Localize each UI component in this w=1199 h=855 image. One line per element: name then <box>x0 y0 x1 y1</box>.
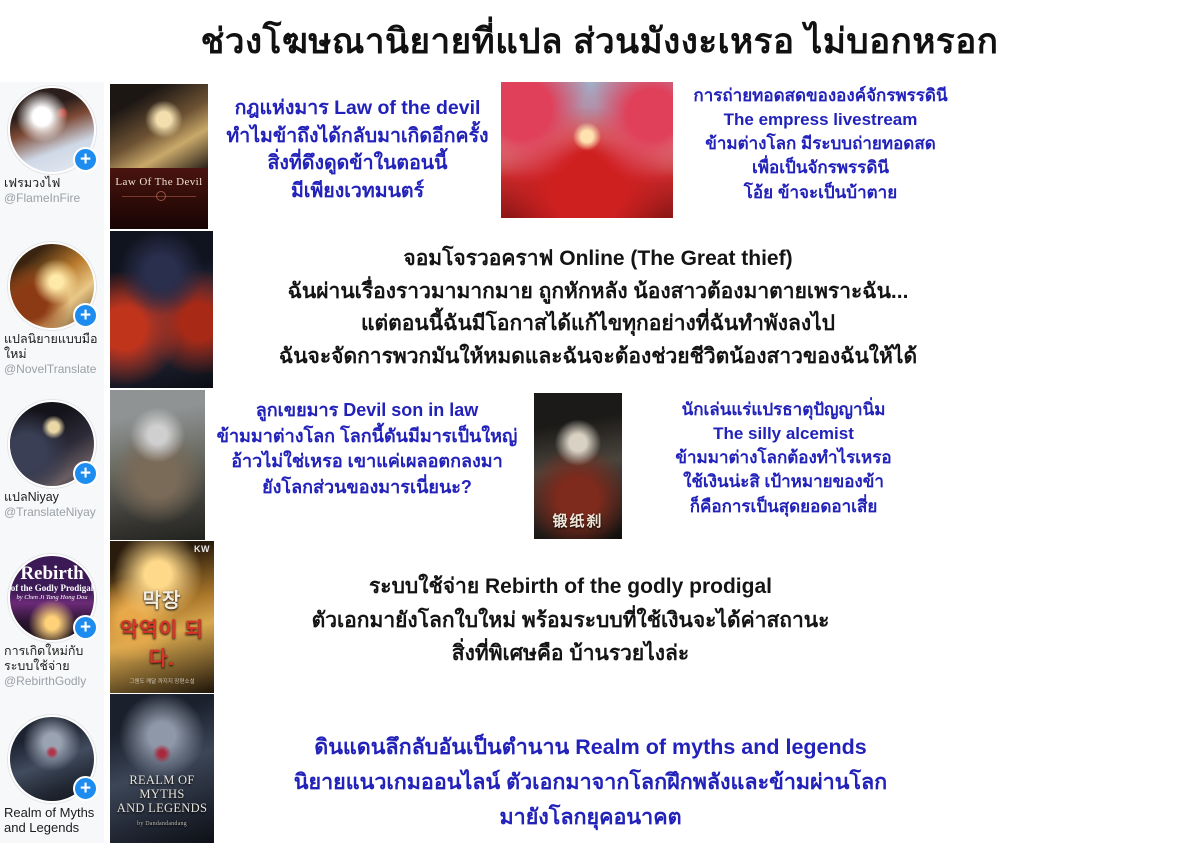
sidebar-item-handle: @TranslateNiyay <box>0 505 104 520</box>
sidebar-item-label: แปลนิยายแบบมือใหม่ <box>0 332 104 362</box>
promo-line: การถ่ายทอดสดขององค์จักรพรรดินี <box>678 84 963 108</box>
promo-line: โอ้ย ข้าจะเป็นบ้าตาย <box>678 181 963 205</box>
promo-line: ทำไมข้าถึงได้กลับมาเกิดอีกครั้ง <box>215 123 500 151</box>
cover-art-devil-son-in-law <box>110 390 205 540</box>
sidebar-item-translateniyay[interactable]: + แปลNiyay @TranslateNiyay <box>0 400 104 548</box>
follow-plus-badge[interactable]: + <box>73 147 98 172</box>
page-title: ช่วงโฆษณานิยายที่แปล ส่วนมังงะเหรอ ไม่บอ… <box>0 14 1199 69</box>
cover-caption: Law Of The Devil <box>110 176 208 188</box>
cover-caption-kr-sub: 그웬도 깨달 까지지 장편소설 <box>110 677 214 685</box>
promo-line: เพื่อเป็นจักรพรรดินี <box>678 156 963 180</box>
promo-line: จอมโจรวอคราฟ Online (The Great thief) <box>218 243 978 276</box>
promo-line: ยังโลกส่วนของมารเนี่ยนะ? <box>207 475 527 501</box>
sidebar-item-handle: @NovelTranslate <box>0 362 104 377</box>
promo-law-of-the-devil: กฎแห่งมาร Law of the devil ทำไมข้าถึงได้… <box>215 95 500 206</box>
avatar-wrap[interactable]: + <box>8 242 96 330</box>
follow-plus-badge[interactable]: + <box>73 776 98 801</box>
promo-line: ระบบใช้จ่าย Rebirth of the godly prodiga… <box>258 570 883 604</box>
followed-accounts-sidebar: + เฟรมวงไฟ @FlameInFire + แปลนิยายแบบมือ… <box>0 82 104 843</box>
sidebar-item-label: การเกิดใหม่กับระบบใช้จ่าย <box>0 644 104 674</box>
cover-caption-realm-line2: AND LEGENDS <box>117 801 207 815</box>
avatar-overlay-text: Rebirth of the Godly Prodigal by Chen Ji… <box>10 564 94 602</box>
cover-caption-realm-line1: REALM OF MYTHS <box>129 773 194 801</box>
promo-line: ฉันผ่านเรื่องราวมามากมาย ถูกหักหลัง น้อง… <box>218 276 978 309</box>
promo-devil-son-in-law: ลูกเขยมาร Devil son in law ข้ามมาต่างโลก… <box>207 398 527 500</box>
follow-plus-badge[interactable]: + <box>73 461 98 486</box>
cover-caption-realm-sub: by Dandandandang <box>112 817 212 831</box>
sidebar-item-realm-of-myths[interactable]: + Realm of Myths and Legends <box>0 715 104 855</box>
promo-line: ข้ามมาต่างโลกต้องทำไรเหรอ <box>636 446 931 470</box>
cover-art-law-of-the-devil <box>110 84 208 168</box>
watermark-kw: KW <box>194 544 210 554</box>
sidebar-item-label: แปลNiyay <box>0 490 104 505</box>
promo-line: นิยายแนวเกมออนไลน์ ตัวเอกมาจากโลกฝึกพลัง… <box>248 765 933 800</box>
sidebar-item-handle: @FlameInFire <box>0 191 104 206</box>
promo-rebirth-godly-prodigal: ระบบใช้จ่าย Rebirth of the godly prodiga… <box>258 570 883 671</box>
promo-line: กฎแห่งมาร Law of the devil <box>215 95 500 123</box>
promo-line: ฉันจะจัดการพวกมันให้หมดและฉันจะต้องช่วยช… <box>218 341 978 374</box>
cover-divider-ring-icon <box>156 191 166 201</box>
sidebar-item-label: Realm of Myths and Legends <box>0 805 104 835</box>
promo-line: แต่ตอนนี้ฉันมีโอกาสได้แก้ไขทุกอย่างที่ฉั… <box>218 308 978 341</box>
follow-plus-badge[interactable]: + <box>73 615 98 640</box>
cover-caption-kr-line1: 막장 <box>143 590 182 612</box>
cover-realm-of-myths[interactable]: REALM OF MYTHS AND LEGENDS by Dandandand… <box>110 694 214 843</box>
promo-empress-livestream: การถ่ายทอดสดขององค์จักรพรรดินี The empre… <box>678 84 963 205</box>
promo-line: ดินแดนลึกลับอันเป็นตำนาน Realm of myths … <box>248 730 933 765</box>
alchemist-cover-glyphs: 锻纸刹 <box>534 510 622 531</box>
avatar-wrap[interactable]: + <box>8 400 96 488</box>
sidebar-item-flameinfire[interactable]: + เฟรมวงไฟ @FlameInFire <box>0 86 104 236</box>
avatar-overlay-line3: by Chen Ji Tang Hong Dou <box>10 595 94 602</box>
promo-line: The silly alcemist <box>636 422 931 446</box>
promo-line: อ้าวไม่ใช่เหรอ เขาแค่เผลอตกลงมา <box>207 449 527 475</box>
sidebar-item-rebirthgodly[interactable]: Rebirth of the Godly Prodigal by Chen Ji… <box>0 554 104 709</box>
cover-caption-kr: 막장 악역이 되다. <box>110 584 214 671</box>
promo-line: The empress livestream <box>678 108 963 132</box>
promo-line: ใช้เงินน่ะสิ เป้าหมายของข้า <box>636 470 931 494</box>
sidebar-item-handle: @RebirthGodly <box>0 674 104 689</box>
promo-line: ก็คือการเป็นสุดยอดอาเสี่ย <box>636 495 931 519</box>
promo-line: ตัวเอกมายังโลกใบใหม่ พร้อมระบบที่ใช้เงิน… <box>258 604 883 638</box>
avatar-wrap[interactable]: Rebirth of the Godly Prodigal by Chen Ji… <box>8 554 96 642</box>
promo-line: ข้ามต่างโลก มีระบบถ่ายทอดสด <box>678 132 963 156</box>
cover-great-thief[interactable] <box>110 231 213 388</box>
cover-law-of-the-devil[interactable]: Law Of The Devil <box>110 84 208 229</box>
sidebar-item-label: เฟรมวงไฟ <box>0 176 104 191</box>
promo-line: ข้ามมาต่างโลก โลกนี้ดันมีมารเป็นใหญ่ <box>207 424 527 450</box>
avatar-wrap[interactable]: + <box>8 715 96 803</box>
promo-silly-alchemist: นักเล่นแร่แปรธาตุปัญญานิ่ม The silly alc… <box>636 398 931 519</box>
promo-line: ลูกเขยมาร Devil son in law <box>207 398 527 424</box>
promo-line: มีเพียงเวทมนตร์ <box>215 178 500 206</box>
promo-line: นักเล่นแร่แปรธาตุปัญญานิ่ม <box>636 398 931 422</box>
avatar-overlay-line1: Rebirth <box>10 564 94 584</box>
cover-rebirth-godly-prodigal-kr[interactable]: KW 막장 악역이 되다. 그웬도 깨달 까지지 장편소설 <box>110 541 214 693</box>
empress-artwork-icon <box>501 82 673 218</box>
image-empress-livestream[interactable] <box>501 82 673 218</box>
avatar-overlay-line2: of the Godly Prodigal <box>10 584 94 593</box>
cover-caption-realm: REALM OF MYTHS AND LEGENDS by Dandandand… <box>112 773 212 831</box>
promo-realm-of-myths: ดินแดนลึกลับอันเป็นตำนาน Realm of myths … <box>248 730 933 834</box>
promo-line: สิ่งที่ดึงดูดข้าในตอนนี้ <box>215 150 500 178</box>
cover-caption-kr-line2: 악역이 되다. <box>120 619 204 670</box>
image-silly-alchemist[interactable]: 锻纸刹 <box>534 393 622 539</box>
cover-art-great-thief <box>110 231 213 388</box>
cover-devil-son-in-law[interactable] <box>110 390 205 540</box>
promo-line: มายังโลกยุคอนาคต <box>248 800 933 835</box>
promo-great-thief: จอมโจรวอคราฟ Online (The Great thief) ฉั… <box>218 243 978 373</box>
promo-line: สิ่งที่พิเศษคือ บ้านรวยไงล่ะ <box>258 637 883 671</box>
sidebar-item-noveltranslate[interactable]: + แปลนิยายแบบมือใหม่ @NovelTranslate <box>0 242 104 394</box>
follow-plus-badge[interactable]: + <box>73 303 98 328</box>
avatar-wrap[interactable]: + <box>8 86 96 174</box>
